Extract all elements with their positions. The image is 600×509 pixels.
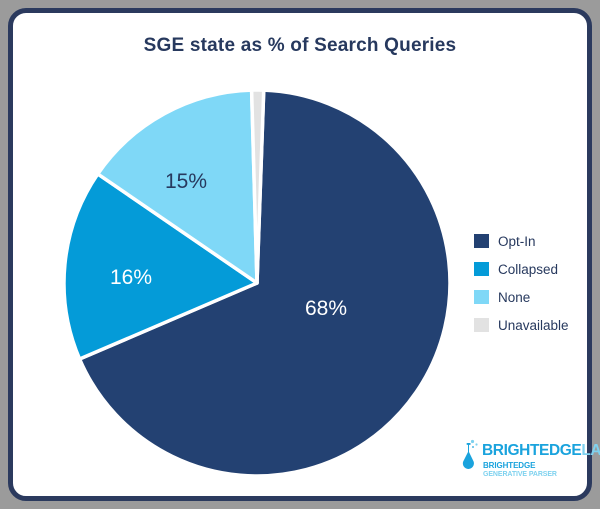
logo-subtitle-line1: BRIGHTEDGE	[483, 462, 535, 470]
legend-item-label: None	[498, 290, 530, 305]
legend-item-unavailable[interactable]: Unavailable	[474, 311, 589, 339]
chart-card: SGE state as % of Search Queries 68% 16%…	[8, 8, 592, 501]
legend-swatch-icon	[474, 290, 489, 304]
legend-item-opt-in[interactable]: Opt-In	[474, 227, 589, 255]
legend-item-label: Opt-In	[498, 234, 536, 249]
legend-item-collapsed[interactable]: Collapsed	[474, 255, 589, 283]
logo-brand-secondary: LABS	[581, 442, 600, 459]
legend-item-none[interactable]: None	[474, 283, 589, 311]
legend-swatch-icon	[474, 234, 489, 248]
logo-subtitle-line2: GENERATIVE PARSER	[483, 471, 557, 478]
brightedge-labs-logo: BRIGHTEDGELABS BRIGHTEDGE GENERATIVE PAR…	[460, 437, 595, 487]
flask-icon	[460, 439, 480, 469]
screenshot-root: SGE state as % of Search Queries 68% 16%…	[0, 0, 600, 509]
legend-swatch-icon	[474, 318, 489, 332]
chart-legend: Opt-In Collapsed None Unavailable	[474, 227, 589, 339]
legend-item-label: Unavailable	[498, 318, 569, 333]
logo-brand-primary: BRIGHTEDGE	[482, 442, 581, 459]
legend-swatch-icon	[474, 262, 489, 276]
legend-item-label: Collapsed	[498, 262, 558, 277]
logo-wordmark: BRIGHTEDGELABS	[482, 443, 600, 459]
